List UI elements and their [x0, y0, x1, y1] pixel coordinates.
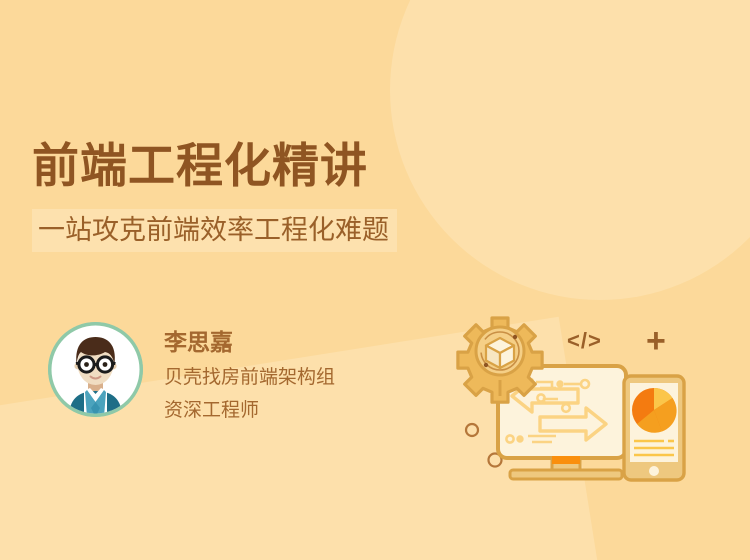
instructor-role: 资深工程师 [164, 398, 335, 424]
instructor-name: 李思嘉 [164, 328, 335, 357]
cube-icon [486, 338, 514, 368]
title-block: 前端工程化精讲 一站攻克前端效率工程化难题 [32, 140, 502, 252]
course-promo-card: 前端工程化精讲 一站攻克前端效率工程化难题 [0, 0, 750, 560]
gear-icon [458, 318, 542, 402]
course-title: 前端工程化精讲 [32, 140, 502, 193]
avatar [48, 322, 143, 417]
instructor-affiliation: 贝壳找房前端架构组 [164, 365, 335, 391]
instructor-block: 李思嘉 贝壳找房前端架构组 资深工程师 [48, 322, 335, 424]
subtitle-highlight-band: 一站攻克前端效率工程化难题 [32, 209, 397, 252]
course-subtitle: 一站攻克前端效率工程化难题 [38, 214, 389, 246]
course-illustration: </> + [440, 300, 700, 500]
decorative-circle-icon [466, 424, 478, 436]
smartphone-icon [624, 376, 684, 480]
avatar-illustration [48, 322, 143, 417]
instructor-text: 李思嘉 贝壳找房前端架构组 资深工程师 [164, 322, 335, 424]
illustration-svg: </> + [440, 300, 700, 500]
code-symbol-icon: </> [567, 328, 602, 353]
plus-symbol-icon: + [646, 322, 666, 360]
